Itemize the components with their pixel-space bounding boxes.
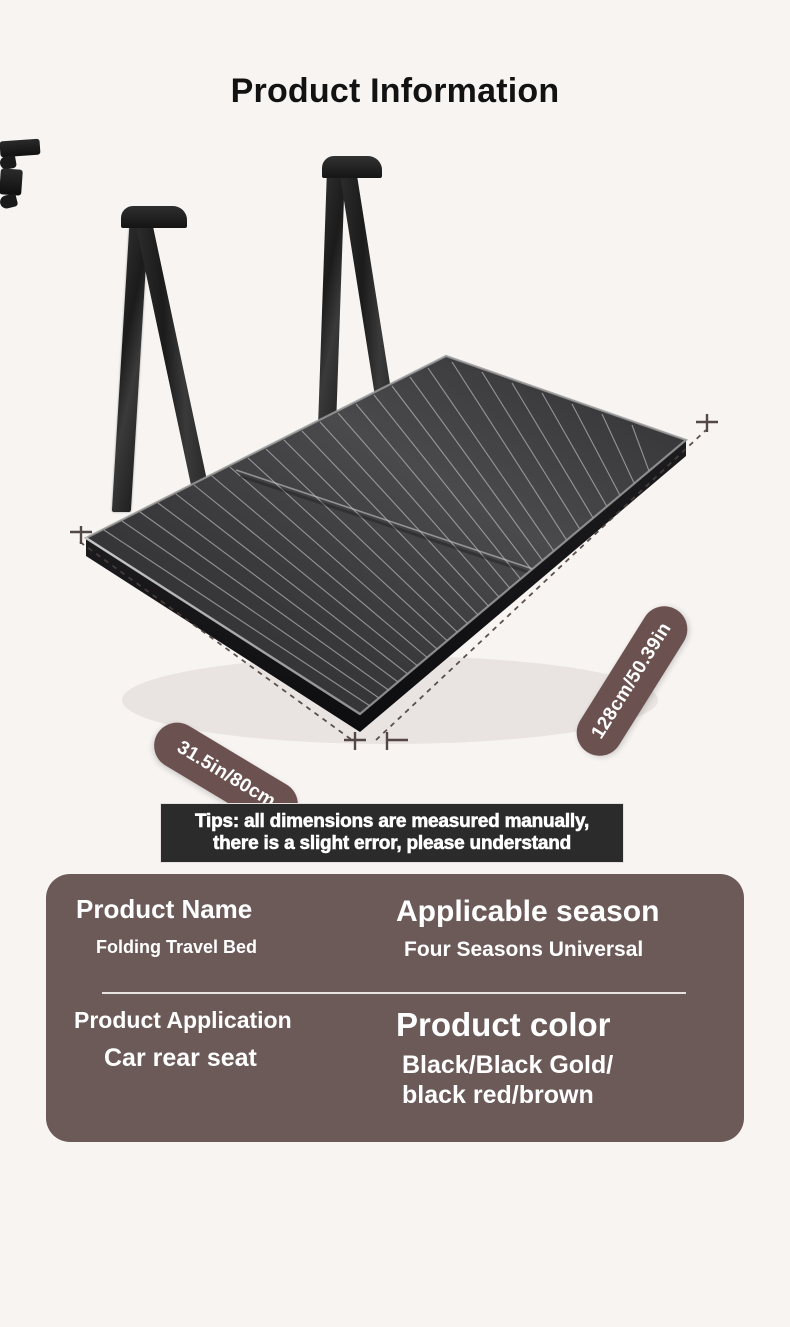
spec-row-1: Product Name Folding Travel Bed Applicab… bbox=[46, 896, 744, 996]
label-product-color: Product color bbox=[396, 1008, 611, 1043]
tips-banner: Tips: all dimensions are measured manual… bbox=[160, 803, 624, 863]
tips-line-1: Tips: all dimensions are measured manual… bbox=[195, 811, 589, 833]
product-image: 31.5in/80cm 128cm/50.39in bbox=[0, 140, 790, 780]
spec-cell-applicable-season: Applicable season Four Seasons Universal bbox=[380, 896, 744, 996]
page-title: Product Information bbox=[0, 72, 790, 111]
spec-card: Product Name Folding Travel Bed Applicab… bbox=[46, 874, 744, 1142]
spec-cell-product-color: Product color Black/Black Gold/ black re… bbox=[380, 1008, 744, 1128]
spec-row-2: Product Application Car rear seat Produc… bbox=[46, 1008, 744, 1128]
value-product-application: Car rear seat bbox=[104, 1044, 257, 1072]
spec-cell-product-name: Product Name Folding Travel Bed bbox=[46, 896, 380, 996]
spec-cell-product-application: Product Application Car rear seat bbox=[46, 1008, 380, 1128]
label-product-application: Product Application bbox=[74, 1008, 292, 1032]
value-product-name: Folding Travel Bed bbox=[96, 937, 257, 957]
tips-line-2: there is a slight error, please understa… bbox=[213, 833, 571, 855]
value-applicable-season: Four Seasons Universal bbox=[404, 938, 643, 962]
label-product-name: Product Name bbox=[76, 896, 252, 923]
value-product-color-line1: Black/Black Gold/ bbox=[402, 1051, 613, 1079]
label-applicable-season: Applicable season bbox=[396, 896, 659, 928]
value-product-color-line2: black red/brown bbox=[402, 1081, 594, 1109]
card-divider bbox=[102, 992, 686, 994]
mattress-graphic bbox=[0, 140, 790, 780]
